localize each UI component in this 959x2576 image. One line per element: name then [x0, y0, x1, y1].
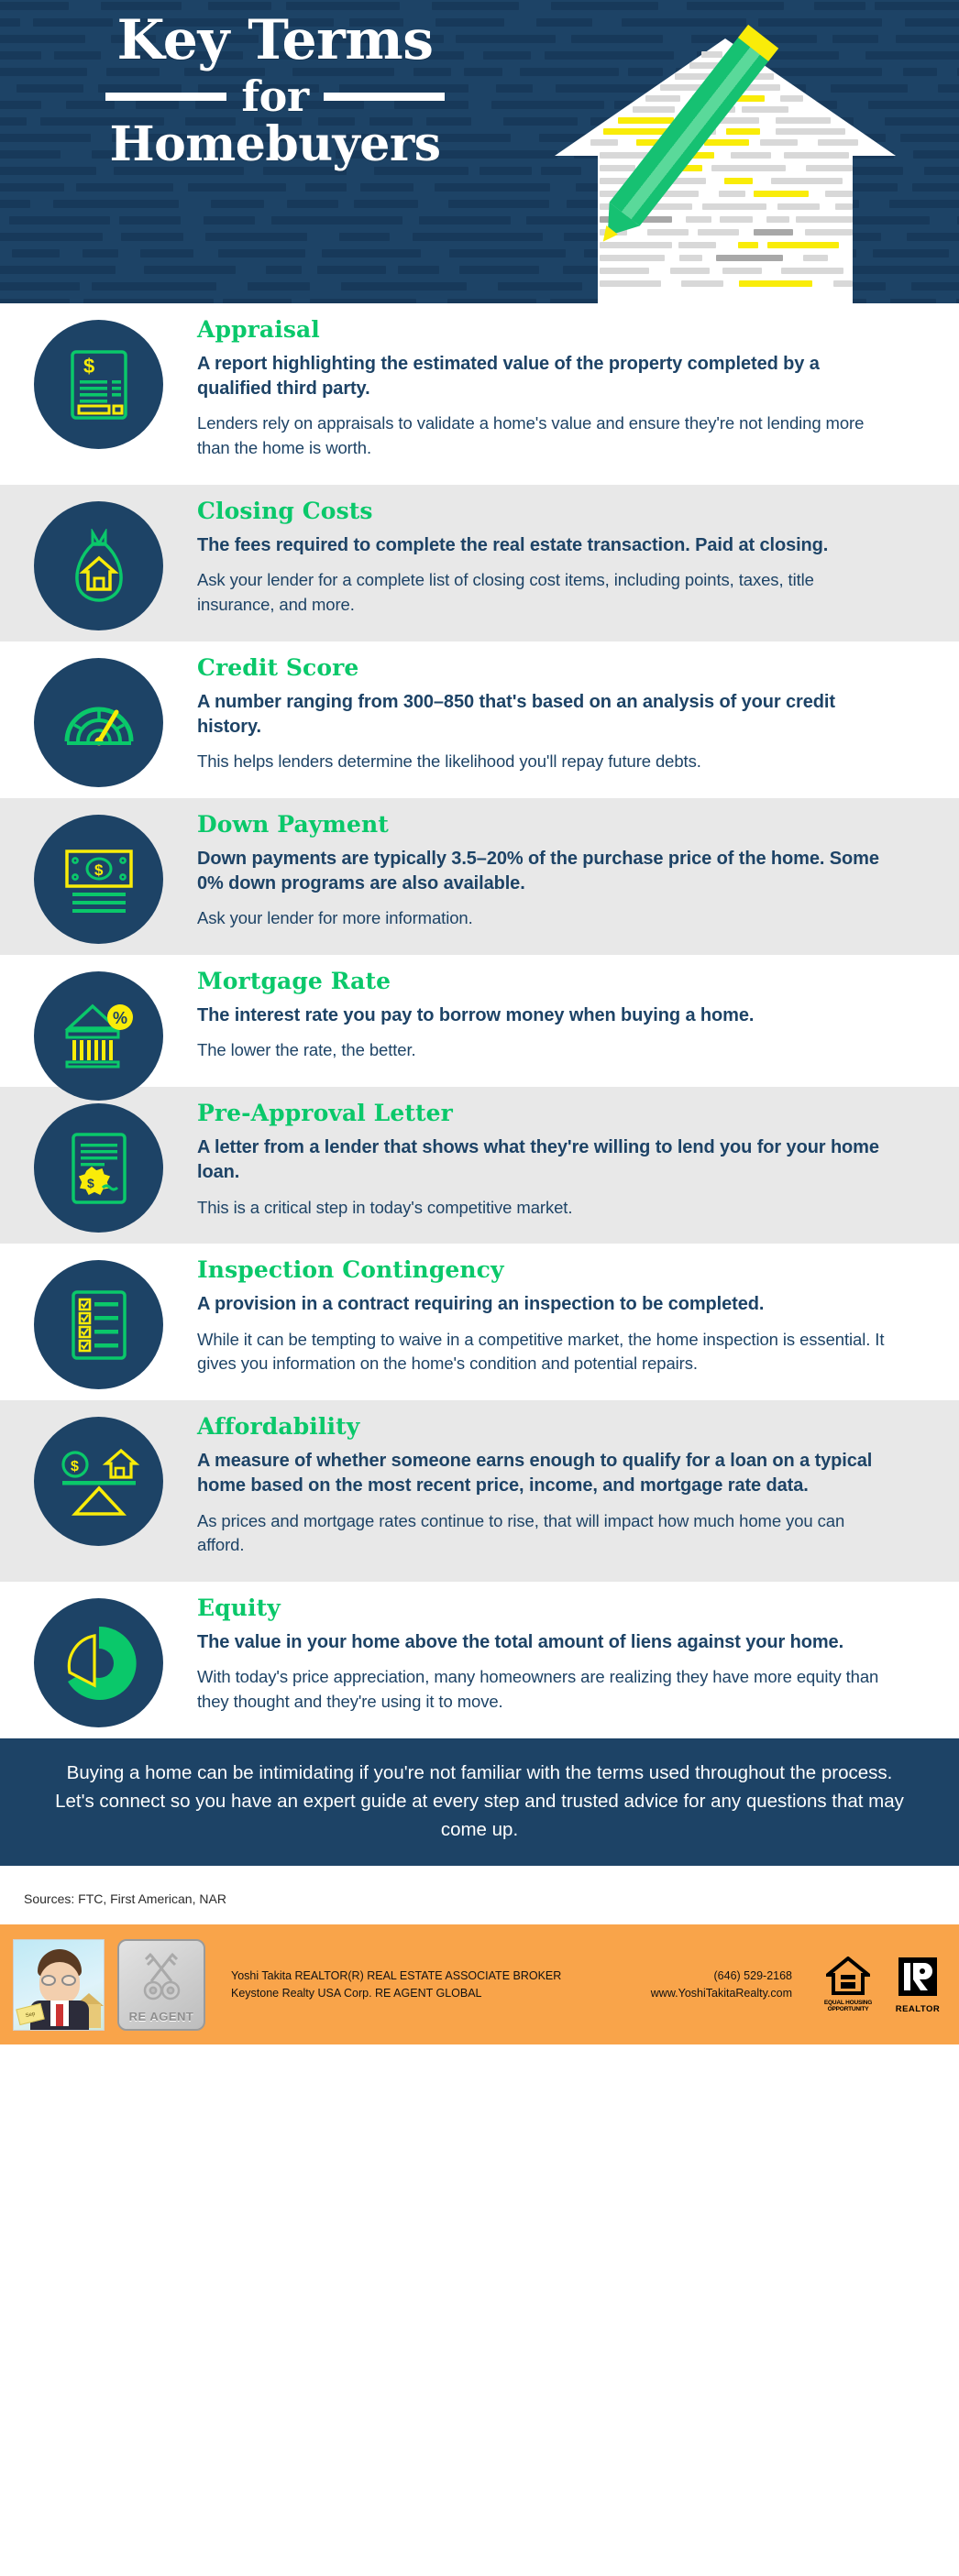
term-icon-column: $ — [0, 1087, 197, 1244]
crossed-keys-icon — [119, 1948, 204, 2005]
term-title: Pre-Approval Letter — [197, 1100, 886, 1127]
bank-percent-icon: % — [34, 971, 163, 1101]
svg-text:$: $ — [87, 1176, 94, 1190]
term-definition: The fees required to complete the real e… — [197, 533, 886, 558]
term-definition: The interest rate you pay to borrow mone… — [197, 1003, 886, 1028]
term-definition: A letter from a lender that shows what t… — [197, 1135, 886, 1185]
title-line-3: Homebuyers — [0, 121, 550, 169]
re-agent-logo-text: RE AGENT — [129, 2010, 194, 2023]
term-text-column: Equity The value in your home above the … — [197, 1582, 959, 1738]
cta-banner: Buying a home can be intimidating if you… — [0, 1738, 959, 1866]
term-row: $ Appraisal A report highlighting the es… — [0, 303, 959, 485]
term-icon-column: $ — [0, 303, 197, 485]
term-text-column: Mortgage Rate The interest rate you pay … — [197, 955, 959, 1087]
term-text-column: Credit Score A number ranging from 300–8… — [197, 641, 959, 798]
house-with-highlighter-icon — [550, 9, 959, 303]
term-title: Affordability — [197, 1413, 886, 1441]
term-title: Closing Costs — [197, 498, 886, 525]
term-definition: Down payments are typically 3.5–20% of t… — [197, 847, 886, 896]
term-text-column: Closing Costs The fees required to compl… — [197, 485, 959, 641]
term-row: % Mortgage Rate The interest rate you pa… — [0, 955, 959, 1087]
term-definition: A number ranging from 300–850 that's bas… — [197, 690, 886, 740]
equal-housing-opportunity-icon: EQUAL HOUSING OPPORTUNITY — [820, 1957, 876, 2014]
term-icon-column — [0, 641, 197, 798]
agent-contact-block: (646) 529-2168 www.YoshiTakitaRealty.com — [651, 1968, 807, 2003]
term-definition: A provision in a contract requiring an i… — [197, 1292, 886, 1317]
page-title: Key Terms for Homebuyers — [0, 13, 550, 169]
term-text-column: Affordability A measure of whether someo… — [197, 1400, 959, 1582]
term-note: The lower the rate, the better. — [197, 1038, 886, 1063]
svg-text:%: % — [113, 1009, 127, 1027]
term-row: $ Down Payment Down payments are typical… — [0, 798, 959, 955]
term-icon-column: $ — [0, 1400, 197, 1582]
term-note: While it can be tempting to waive in a c… — [197, 1328, 886, 1377]
term-title: Equity — [197, 1595, 886, 1622]
term-icon-column: % — [0, 955, 197, 1087]
money-bag-house-icon — [34, 501, 163, 630]
term-title: Appraisal — [197, 316, 886, 344]
agent-name-title: Yoshi Takita REALTOR(R) REAL ESTATE ASSO… — [231, 1968, 638, 1985]
re-agent-logo[interactable]: RE AGENT — [117, 1939, 205, 2031]
term-note: Ask your lender for a complete list of c… — [197, 568, 886, 618]
term-row: Inspection Contingency A provision in a … — [0, 1244, 959, 1400]
term-definition: A measure of whether someone earns enoug… — [197, 1449, 886, 1498]
term-text-column: Down Payment Down payments are typically… — [197, 798, 959, 955]
term-row: Credit Score A number ranging from 300–8… — [0, 641, 959, 798]
term-icon-column: $ — [0, 798, 197, 955]
term-text-column: Appraisal A report highlighting the esti… — [197, 303, 959, 485]
eho-label-line-1: EQUAL HOUSING — [820, 2001, 876, 2007]
realtor-label: REALTOR — [889, 2004, 946, 2014]
term-title: Credit Score — [197, 654, 886, 682]
inspection-checklist-icon — [34, 1260, 163, 1389]
term-definition: The value in your home above the total a… — [197, 1630, 886, 1655]
realtor-logo-icon: REALTOR — [889, 1956, 946, 2014]
balance-scale-icon: $ — [34, 1417, 163, 1546]
photo-glasses-left — [41, 1975, 56, 1986]
term-row: Equity The value in your home above the … — [0, 1582, 959, 1738]
title-line-2-row: for — [0, 75, 550, 117]
title-rule-right — [324, 93, 445, 101]
term-title: Mortgage Rate — [197, 968, 886, 995]
term-text-column: Inspection Contingency A provision in a … — [197, 1244, 959, 1400]
header-banner: Key Terms for Homebuyers — [0, 0, 959, 303]
agent-brokerage: Keystone Realty USA Corp. RE AGENT GLOBA… — [231, 1985, 638, 2002]
term-note: This is a critical step in today's compe… — [197, 1196, 886, 1221]
terms-list: $ Appraisal A report highlighting the es… — [0, 303, 959, 1738]
term-note: Lenders rely on appraisals to validate a… — [197, 411, 886, 461]
sources-line: Sources: FTC, First American, NAR — [0, 1866, 959, 1924]
title-line-1: Key Terms — [0, 13, 550, 68]
term-title: Inspection Contingency — [197, 1256, 886, 1284]
title-line-2: for — [241, 75, 308, 117]
highlighter-cap — [738, 25, 778, 61]
term-row: $ Pre-Approval Letter A letter from a le… — [0, 1087, 959, 1244]
agent-phone[interactable]: (646) 529-2168 — [651, 1968, 792, 1985]
approval-letter-seal-icon: $ — [34, 1103, 163, 1233]
svg-text:$: $ — [83, 355, 94, 378]
credit-gauge-icon — [34, 658, 163, 787]
photo-tie — [56, 2004, 63, 2026]
term-icon-column — [0, 1582, 197, 1738]
agent-footer-bar: Sep RE AGENT Yoshi Takita REALTOR(R) REA… — [0, 1924, 959, 2044]
term-icon-column — [0, 1244, 197, 1400]
term-text-column: Pre-Approval Letter A letter from a lend… — [197, 1087, 959, 1244]
photo-glasses-right — [61, 1975, 76, 1986]
eho-label-line-2: OPPORTUNITY — [820, 2007, 876, 2013]
svg-text:$: $ — [94, 861, 104, 879]
cash-bills-icon: $ — [34, 815, 163, 944]
title-rule-left — [105, 93, 226, 101]
term-row: $ Affordability A measure of whether som… — [0, 1400, 959, 1582]
pie-chart-icon — [34, 1598, 163, 1727]
term-row: Closing Costs The fees required to compl… — [0, 485, 959, 641]
agent-website[interactable]: www.YoshiTakitaRealty.com — [651, 1985, 792, 2002]
term-icon-column — [0, 485, 197, 641]
term-note: With today's price appreciation, many ho… — [197, 1665, 886, 1715]
term-title: Down Payment — [197, 811, 886, 839]
svg-text:$: $ — [71, 1459, 79, 1474]
agent-info-block: Yoshi Takita REALTOR(R) REAL ESTATE ASSO… — [218, 1968, 638, 2003]
term-note: Ask your lender for more information. — [197, 906, 886, 931]
term-note: As prices and mortgage rates continue to… — [197, 1509, 886, 1559]
term-note: This helps lenders determine the likelih… — [197, 750, 886, 774]
agent-caricature-photo: Sep — [13, 1939, 105, 2031]
cta-text: Buying a home can be intimidating if you… — [48, 1759, 911, 1844]
term-definition: A report highlighting the estimated valu… — [197, 352, 886, 401]
appraisal-report-icon: $ — [34, 320, 163, 449]
